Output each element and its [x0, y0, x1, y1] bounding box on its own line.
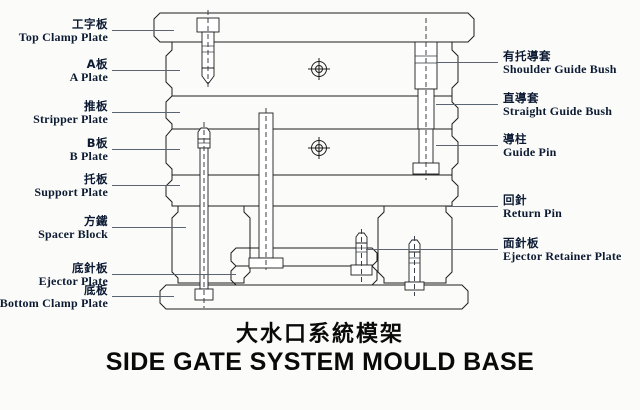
- assembly-ejector-pin-left: [195, 122, 213, 308]
- leader-ejector-retainer-plate: [366, 249, 498, 250]
- title-english: SIDE GATE SYSTEM MOULD BASE: [0, 348, 640, 377]
- part-spacer-block-left: [172, 206, 250, 283]
- part-stripper-plate: [166, 96, 458, 129]
- label-spacer-block: 方鐵 Spacer Block: [38, 216, 108, 240]
- label-cn: 面針板: [503, 238, 622, 250]
- label-en: A Plate: [70, 71, 108, 83]
- label-cn: 導柱: [503, 134, 556, 146]
- label-cn: B板: [70, 138, 108, 150]
- leader-guide-pin: [436, 145, 498, 146]
- label-guide-pin: 導柱 Guide Pin: [503, 134, 556, 158]
- label-b-plate: B板 B Plate: [70, 138, 108, 162]
- leader-shoulder-guide-bush: [436, 62, 498, 63]
- leader-top-clamp-plate: [112, 30, 174, 31]
- label-support-plate: 托板 Support Plate: [34, 174, 108, 198]
- label-en: Ejector Retainer Plate: [503, 250, 622, 262]
- label-cn: 工字板: [19, 19, 108, 31]
- assembly-return-pin: [405, 236, 424, 296]
- label-en: Top Clamp Plate: [19, 31, 108, 43]
- label-shoulder-guide-bush: 有托導套 Shoulder Guide Bush: [503, 51, 617, 75]
- label-en: Shoulder Guide Bush: [503, 63, 617, 75]
- leader-spacer-block: [112, 227, 186, 228]
- label-en: B Plate: [70, 150, 108, 162]
- label-en: Return Pin: [503, 207, 562, 219]
- label-cn: 底針板: [39, 263, 108, 275]
- leader-a-plate: [112, 70, 180, 71]
- label-cn: 底板: [0, 285, 108, 297]
- label-stripper-plate: 推板 Stripper Plate: [33, 101, 108, 125]
- label-en: Spacer Block: [38, 228, 108, 240]
- alignment-target-a-plate: [308, 58, 330, 80]
- label-en: Support Plate: [34, 186, 108, 198]
- leader-support-plate: [112, 185, 180, 186]
- assembly-centre-sleeve: [249, 108, 283, 270]
- label-en: Straight Guide Bush: [503, 105, 612, 117]
- label-a-plate: A板 A Plate: [70, 59, 108, 83]
- label-cn: 回針: [503, 195, 562, 207]
- leader-ejector-plate: [112, 274, 236, 275]
- diagram-page: .ln{stroke:#1d1d1d;stroke-width:1;fill:n…: [0, 0, 640, 410]
- label-en: Bottom Clamp Plate: [0, 297, 108, 309]
- label-en: Guide Pin: [503, 146, 556, 158]
- label-ejector-retainer-plate: 面針板 Ejector Retainer Plate: [503, 238, 622, 262]
- title-chinese: 大水口系統模架: [0, 316, 640, 348]
- label-cn: 推板: [33, 101, 108, 113]
- leader-straight-guide-bush: [436, 104, 498, 105]
- leader-bottom-clamp-plate: [112, 296, 174, 297]
- label-cn: A板: [70, 59, 108, 71]
- label-return-pin: 回針 Return Pin: [503, 195, 562, 219]
- assembly-ejector-return-pin: [351, 229, 372, 282]
- label-en: Stripper Plate: [33, 113, 108, 125]
- label-cn: 方鐵: [38, 216, 108, 228]
- assembly-guide-pin-right: [413, 18, 439, 180]
- leader-stripper-plate: [112, 112, 180, 113]
- leader-b-plate: [112, 149, 180, 150]
- label-cn: 托板: [34, 174, 108, 186]
- part-support-plate: [166, 175, 458, 206]
- label-cn: 有托導套: [503, 51, 617, 63]
- label-top-clamp-plate: 工字板 Top Clamp Plate: [19, 19, 108, 43]
- leader-return-pin: [446, 206, 498, 207]
- label-cn: 直導套: [503, 93, 612, 105]
- assembly-top-clamp-screw: [197, 10, 219, 88]
- label-bottom-clamp-plate: 底板 Bottom Clamp Plate: [0, 285, 108, 309]
- alignment-target-b-plate: [308, 137, 330, 159]
- label-straight-guide-bush: 直導套 Straight Guide Bush: [503, 93, 612, 117]
